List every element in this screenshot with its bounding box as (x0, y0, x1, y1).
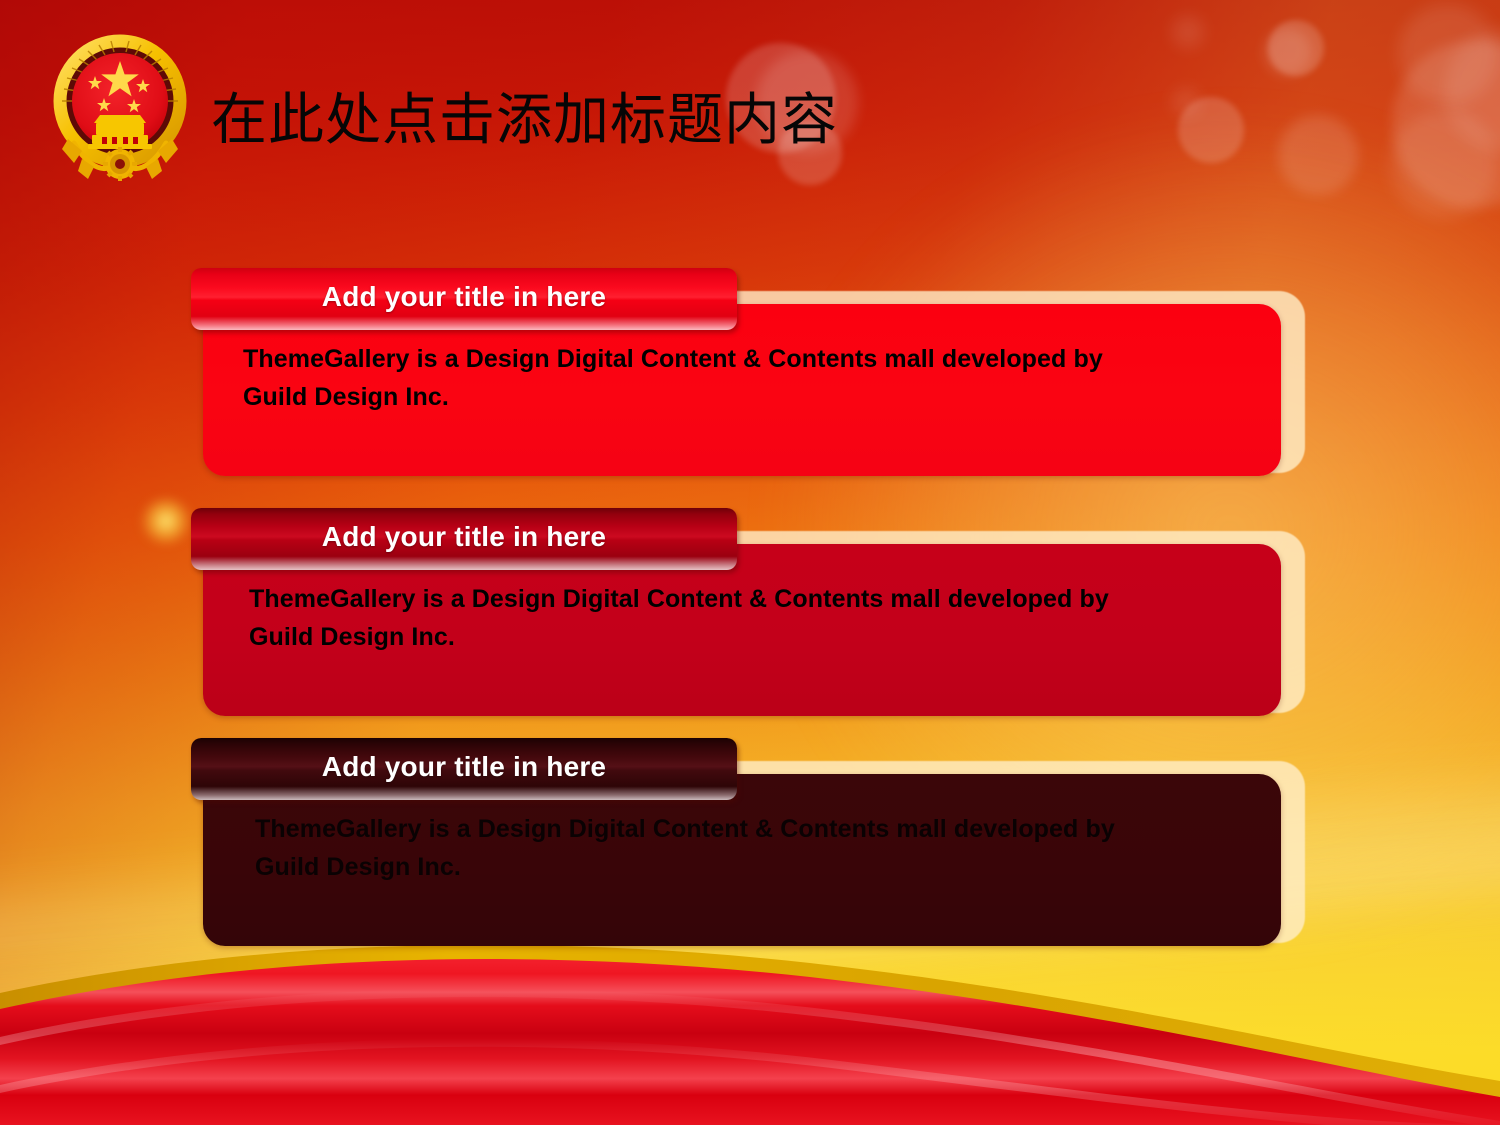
card-body-text: ThemeGallery is a Design Digital Content… (249, 580, 1149, 656)
bokeh-circle (1172, 16, 1204, 48)
card-header-button[interactable]: Add your title in here (191, 508, 737, 570)
national-emblem-icon (48, 31, 192, 191)
decorative-ribbon-wave (0, 925, 1500, 1125)
bokeh-circle (1264, 28, 1312, 76)
page-title: 在此处点击添加标题内容 (211, 88, 838, 152)
card-header-label: Add your title in here (191, 751, 737, 783)
presentation-slide: 在此处点击添加标题内容 ThemeGallery is a Design Dig… (0, 0, 1500, 1125)
bokeh-circle (1390, 110, 1498, 218)
card-body-text: ThemeGallery is a Design Digital Content… (255, 810, 1155, 886)
background-glow-dot (140, 498, 192, 544)
bokeh-circle (1178, 97, 1244, 163)
card-header-button[interactable]: Add your title in here (191, 738, 737, 800)
card-header-label: Add your title in here (191, 521, 737, 553)
card-header-label: Add your title in here (191, 281, 737, 313)
card-header-button[interactable]: Add your title in here (191, 268, 737, 330)
card-body-text: ThemeGallery is a Design Digital Content… (243, 340, 1143, 416)
bokeh-circle (1278, 115, 1358, 195)
